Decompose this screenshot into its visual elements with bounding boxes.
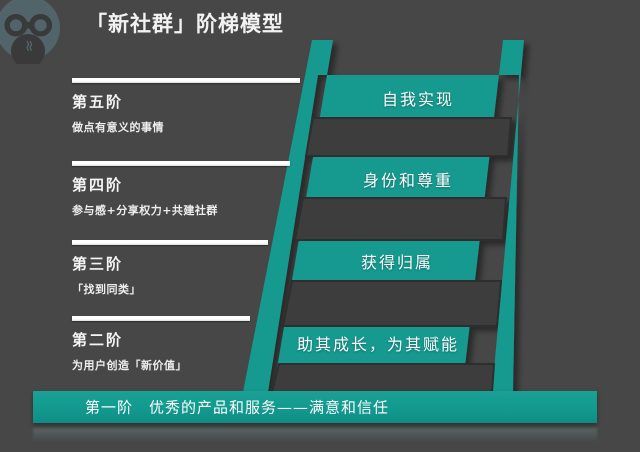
step-subtitle-2: 为用户创造「新价值」 (72, 357, 187, 373)
step-block-2: 第二阶 为用户创造「新价值」 (72, 329, 187, 373)
step-title-4: 第四阶 (72, 174, 218, 195)
rung-gap-1 (306, 118, 511, 156)
base-bar: 第一阶 优秀的产品和服务——满意和信任 (33, 391, 597, 423)
slide-canvas: 「新社群」阶梯模型 自我实现 身份和尊重 获得归属 助其成长，为其赋能 (0, 0, 640, 452)
step-title-3: 第三阶 (72, 253, 141, 274)
step-rule-4 (72, 161, 290, 166)
step-subtitle-3: 「找到同类」 (72, 281, 141, 297)
step-subtitle-5: 做点有意义的事情 (72, 119, 164, 135)
rung-gap-2 (295, 198, 506, 240)
base-bar-reflection (33, 428, 597, 441)
step-rule-5 (72, 78, 300, 83)
step-subtitle-4: 参与感+分享权力+共建社群 (72, 202, 218, 218)
rung-label-self-actualization: 自我实现 (318, 86, 518, 110)
step-rule-3 (72, 240, 268, 245)
base-bar-label: 第一阶 优秀的产品和服务——满意和信任 (85, 397, 389, 418)
step-block-5: 第五阶 做点有意义的事情 (72, 91, 164, 135)
rung-label-belonging: 获得归属 (297, 249, 497, 273)
step-rule-2 (72, 316, 250, 321)
step-title-2: 第二阶 (72, 329, 187, 350)
step-block-4: 第四阶 参与感+分享权力+共建社群 (72, 174, 218, 218)
step-title-5: 第五阶 (72, 91, 164, 112)
ladder-graphic (0, 0, 640, 452)
rung-label-identity-respect: 身份和尊重 (308, 167, 508, 191)
rung-gap-4 (272, 364, 494, 392)
rung-label-growth-empower: 助其成长，为其赋能 (268, 331, 488, 355)
step-block-3: 第三阶 「找到同类」 (72, 253, 141, 297)
rung-gap-3 (283, 281, 501, 326)
